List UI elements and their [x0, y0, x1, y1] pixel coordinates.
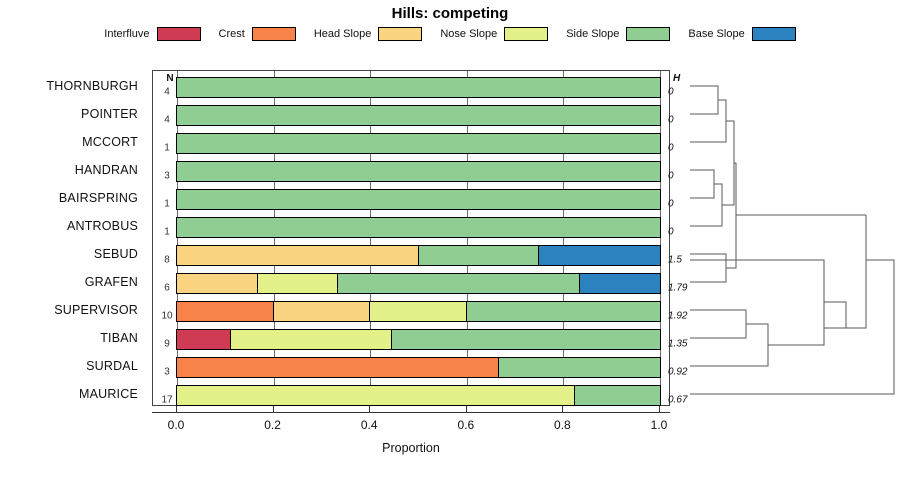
- bar-segment: [176, 161, 661, 182]
- legend-item: Base Slope: [688, 27, 795, 41]
- chart-root: Hills: competing InterfluveCrestHead Slo…: [0, 0, 900, 480]
- bar-segment: [538, 245, 660, 266]
- legend-item-label: Head Slope: [314, 28, 372, 40]
- dendro-link-6: [690, 254, 726, 282]
- stacked-bar: [177, 217, 660, 238]
- stacked-bar: [177, 133, 660, 154]
- category-label: MAURICE: [79, 387, 138, 401]
- legend-swatch: [504, 27, 548, 41]
- bar-segment: [176, 357, 500, 378]
- bar-segment: [273, 301, 371, 322]
- bar-segment: [176, 217, 661, 238]
- x-axis-tick-label: 0.0: [168, 418, 185, 432]
- legend: InterfluveCrestHead SlopeNose SlopeSide …: [0, 27, 900, 41]
- bar-segment: [418, 245, 540, 266]
- plot-area: NH40401030101081.561.79101.9291.3530.921…: [152, 70, 670, 406]
- bar-segment: [498, 357, 661, 378]
- stacked-bar: [177, 77, 660, 98]
- h-value: 0: [668, 87, 674, 98]
- h-value: 1.79: [668, 283, 687, 294]
- category-axis-labels: THORNBURGHPOINTERMCCORTHANDRANBAIRSPRING…: [0, 70, 146, 406]
- bar-segment: [466, 301, 661, 322]
- bar-segment: [369, 301, 467, 322]
- x-axis-tick: [273, 406, 274, 413]
- legend-swatch: [378, 27, 422, 41]
- h-value: 0.92: [668, 367, 687, 378]
- category-label: SUPERVISOR: [54, 303, 138, 317]
- category-label: GRAFEN: [85, 275, 138, 289]
- stacked-bar: [177, 301, 660, 322]
- dendro-link-1: [690, 86, 718, 114]
- stacked-bar: [177, 273, 660, 294]
- h-value: 1.35: [668, 339, 687, 350]
- stacked-bar: [177, 245, 660, 266]
- dendro-link-13: [846, 215, 866, 328]
- legend-swatch: [752, 27, 796, 41]
- page-title: Hills: competing: [0, 5, 900, 22]
- dendrogram: [688, 70, 900, 406]
- bar-segment: [176, 329, 231, 350]
- category-label: POINTER: [81, 107, 138, 121]
- legend-swatch: [157, 27, 201, 41]
- legend-item: Crest: [219, 27, 296, 41]
- category-label: HANDRAN: [75, 163, 138, 177]
- dendro-link-5: [722, 121, 734, 205]
- dendro-link-12: [824, 302, 846, 328]
- dendrogram-svg: [688, 70, 900, 406]
- x-axis-tick: [369, 406, 370, 413]
- x-axis-tick: [562, 406, 563, 413]
- h-value: 1.5: [668, 255, 682, 266]
- legend-item-label: Side Slope: [566, 28, 619, 40]
- legend-item-label: Nose Slope: [440, 28, 497, 40]
- stacked-bar: [177, 161, 660, 182]
- legend-swatch: [626, 27, 670, 41]
- bar-segment: [176, 301, 274, 322]
- bar-segment: [230, 329, 393, 350]
- legend-item: Interfluve: [104, 27, 200, 41]
- bar-segment: [257, 273, 339, 294]
- category-label: THORNBURGH: [46, 79, 138, 93]
- h-value: 0: [668, 227, 674, 238]
- h-value: 0: [668, 199, 674, 210]
- category-label: SURDAL: [86, 359, 138, 373]
- legend-item: Nose Slope: [440, 27, 548, 41]
- bar-segment: [176, 245, 419, 266]
- dendro-link-14: [690, 260, 894, 394]
- h-value: 0: [668, 171, 674, 182]
- bar-segment: [337, 273, 580, 294]
- stacked-bar: [177, 105, 660, 126]
- bar-segment: [176, 77, 661, 98]
- legend-item-label: Base Slope: [688, 28, 744, 40]
- x-axis-tick-label: 0.8: [554, 418, 571, 432]
- bar-segment: [574, 385, 661, 406]
- h-value: 1.92: [668, 311, 687, 322]
- legend-item-label: Crest: [219, 28, 245, 40]
- bar-segment: [176, 273, 258, 294]
- stacked-bar: [177, 385, 660, 406]
- bar-segment: [176, 385, 575, 406]
- x-axis-line: [152, 412, 670, 413]
- legend-item: Side Slope: [566, 27, 670, 41]
- category-label: TIBAN: [100, 331, 138, 345]
- bar-segment: [176, 105, 661, 126]
- dendro-link-10: [690, 324, 768, 366]
- dendro-link-9: [690, 310, 746, 338]
- category-label: BAIRSPRING: [59, 191, 138, 205]
- x-axis-tick: [176, 406, 177, 413]
- legend-item-label: Interfluve: [104, 28, 149, 40]
- legend-item: Head Slope: [314, 27, 423, 41]
- bar-segment: [391, 329, 661, 350]
- stacked-bar: [177, 357, 660, 378]
- dendro-link-11: [690, 260, 824, 345]
- x-axis-tick-label: 0.2: [264, 418, 281, 432]
- h-value: 0: [668, 143, 674, 154]
- h-value: 0: [668, 115, 674, 126]
- stacked-bar: [177, 189, 660, 210]
- x-axis-tick-label: 0.4: [361, 418, 378, 432]
- x-axis-tick-label: 0.6: [457, 418, 474, 432]
- category-label: ANTROBUS: [67, 219, 138, 233]
- dendro-link-4: [690, 184, 722, 226]
- h-value: 0.67: [668, 395, 687, 406]
- legend-swatch: [252, 27, 296, 41]
- x-axis-tick: [466, 406, 467, 413]
- bar-segment: [579, 273, 661, 294]
- category-label: SEBUD: [94, 247, 138, 261]
- bar-segment: [176, 133, 661, 154]
- bar-segment: [176, 189, 661, 210]
- dendro-link-3: [690, 170, 714, 198]
- x-axis-title: Proportion: [152, 441, 670, 455]
- x-axis-tick: [659, 406, 660, 413]
- x-axis-tick-label: 1.0: [651, 418, 668, 432]
- dendro-link-2: [690, 100, 726, 142]
- h-column-header: H: [673, 73, 680, 84]
- category-label: MCCORT: [82, 135, 138, 149]
- stacked-bar: [177, 329, 660, 350]
